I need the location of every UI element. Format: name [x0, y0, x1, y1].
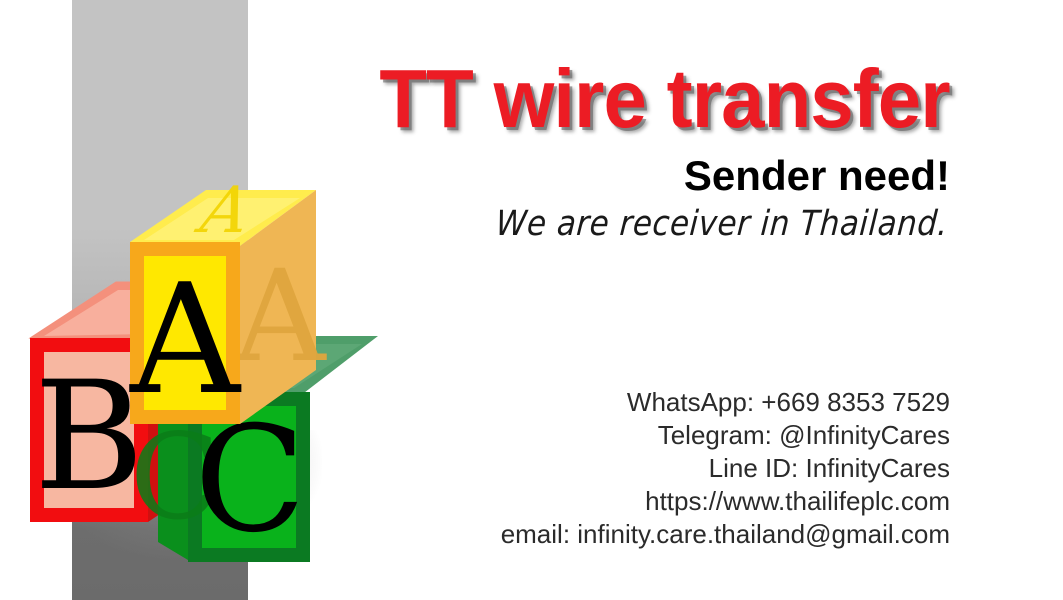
contact-line-whatsapp: WhatsApp: +669 8353 7529: [250, 386, 950, 419]
tagline: We are receiver in Thailand.: [495, 202, 950, 247]
text-column: TT wire transfer Sender need! We are rec…: [250, 0, 950, 600]
contact-line-email[interactable]: email: infinity.care.thailand@gmail.com: [250, 518, 950, 551]
business-card-graphic: B C C: [0, 0, 1063, 600]
contact-line-lineid: Line ID: InfinityCares: [250, 452, 950, 485]
contact-line-website[interactable]: https://www.thailifeplc.com: [250, 485, 950, 518]
contact-line-telegram: Telegram: @InfinityCares: [250, 419, 950, 452]
headline: TT wire transfer: [380, 56, 950, 142]
subheadline: Sender need!: [684, 152, 950, 200]
block-b-letter: B: [34, 350, 144, 524]
block-a-letter: A: [129, 251, 242, 428]
contact-block: WhatsApp: +669 8353 7529 Telegram: @Infi…: [250, 386, 950, 551]
